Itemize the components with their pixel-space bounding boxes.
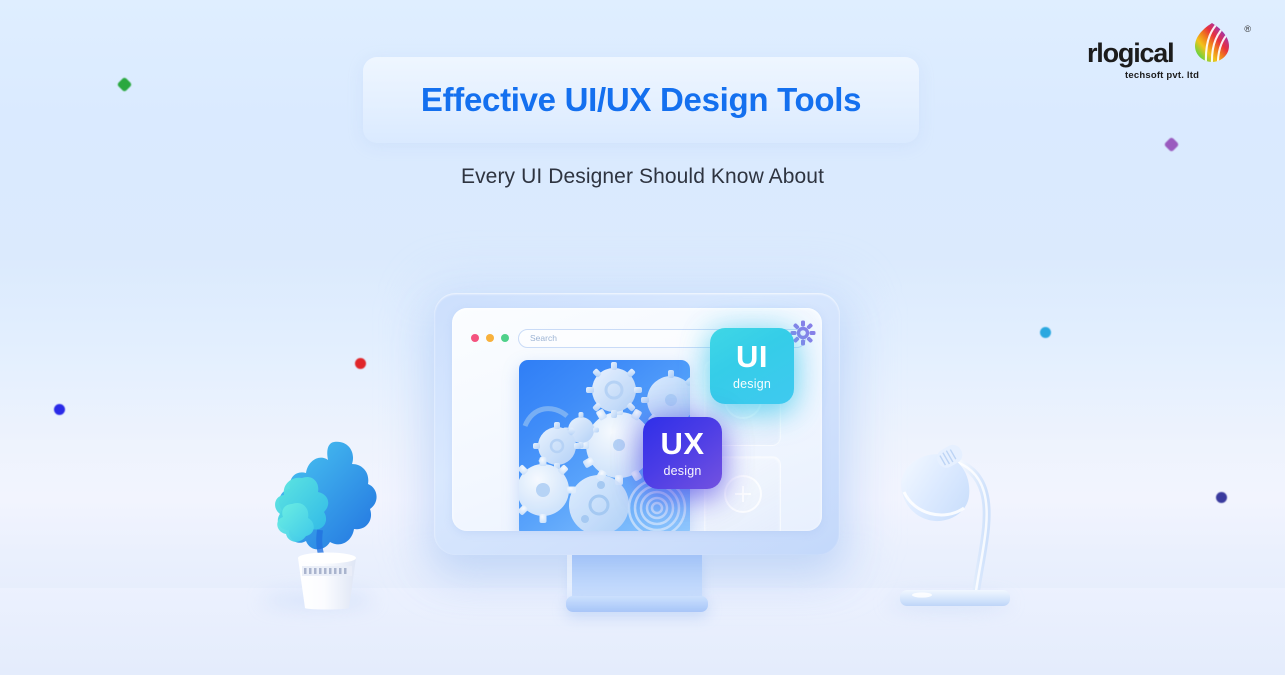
monitor-base xyxy=(566,596,708,612)
maximize-window-icon[interactable] xyxy=(501,334,509,342)
plus-icon xyxy=(735,486,751,502)
ux-design-card[interactable]: UX design xyxy=(643,417,722,489)
ui-card-title: UI xyxy=(736,341,768,372)
window-traffic-lights[interactable] xyxy=(471,334,509,342)
ui-card-subtitle: design xyxy=(733,377,771,391)
ui-design-card[interactable]: UI design xyxy=(710,328,794,404)
close-window-icon[interactable] xyxy=(471,334,479,342)
desk-lamp xyxy=(880,440,1032,615)
minimize-window-icon[interactable] xyxy=(486,334,494,342)
placeholder-circle-icon xyxy=(724,475,762,513)
search-placeholder: Search xyxy=(530,333,557,343)
monitor-neck xyxy=(570,555,702,599)
ux-card-subtitle: design xyxy=(663,464,701,478)
ux-card-title: UX xyxy=(660,428,704,459)
illustration-scene: Search xyxy=(0,0,1285,675)
potted-plant xyxy=(262,430,392,610)
